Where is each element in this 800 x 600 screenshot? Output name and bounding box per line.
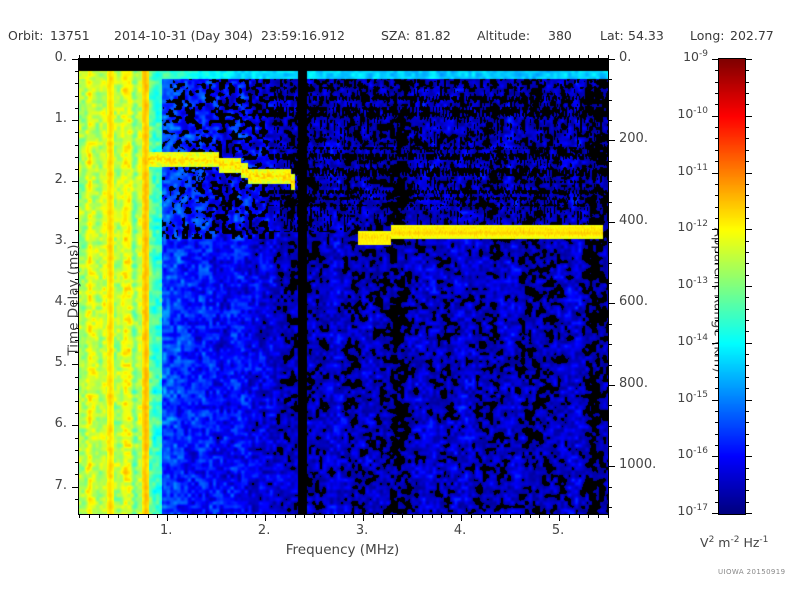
y-axis-left-title: Time Delay (ms) [66, 244, 82, 355]
y-axis-left-tick-label: 6. [55, 416, 67, 431]
colorbar-minor-tick [745, 127, 749, 128]
colorbar-minor-tick [715, 331, 719, 332]
colorbar-tick-mark [745, 343, 752, 344]
tick-mark [549, 514, 550, 518]
tick-mark [177, 55, 178, 59]
colorbar-tick-mark [745, 229, 752, 230]
colorbar-minor-tick [745, 479, 749, 480]
tick-mark [432, 55, 433, 59]
colorbar-base: 10 [677, 163, 693, 178]
credit-text: UIOWA 20150919 [718, 568, 785, 576]
colorbar-base: 10 [677, 446, 693, 461]
tick-mark [412, 55, 413, 59]
tick-mark [75, 230, 79, 231]
tick-mark [579, 514, 580, 518]
tick-mark [118, 514, 119, 518]
colorbar-minor-tick [745, 490, 749, 491]
tick-mark [608, 365, 612, 366]
x-axis-tick-label: 3. [342, 523, 382, 538]
units-m: m [718, 535, 730, 550]
y-axis-left-tick-label: 0. [55, 50, 67, 65]
y-axis-left-tick-label: 5. [55, 355, 67, 370]
colorbar [718, 58, 746, 515]
tick-mark [422, 514, 423, 518]
tick-mark [363, 55, 364, 59]
colorbar-minor-tick [715, 218, 719, 219]
colorbar-minor-tick [745, 93, 749, 94]
tick-mark [138, 514, 139, 518]
tick-mark [148, 514, 149, 518]
tick-mark [75, 193, 79, 194]
x-axis-title: Frequency (MHz) [78, 542, 607, 558]
tick-mark [75, 83, 79, 84]
tick-mark [72, 364, 79, 365]
tick-mark [72, 59, 79, 60]
tick-mark [608, 222, 615, 223]
colorbar-minor-tick [715, 82, 719, 83]
tick-mark [490, 514, 491, 518]
colorbar-minor-tick [745, 184, 749, 185]
tick-mark [608, 385, 615, 386]
tick-mark [72, 181, 79, 182]
colorbar-minor-tick [745, 468, 749, 469]
tick-mark [451, 55, 452, 59]
tick-mark [216, 514, 217, 518]
colorbar-tick-mark [712, 59, 719, 60]
colorbar-tick-label: 10-9 [683, 49, 708, 64]
colorbar-base: 10 [683, 49, 699, 64]
tick-mark [314, 514, 315, 518]
tick-mark [608, 303, 615, 304]
colorbar-minor-tick [715, 411, 719, 412]
tick-mark [304, 55, 305, 59]
units-v: V [700, 535, 709, 550]
tick-mark [75, 157, 79, 158]
tick-mark [608, 466, 615, 467]
tick-mark [608, 507, 612, 508]
tick-mark [608, 514, 609, 518]
colorbar-tick-mark [712, 513, 719, 514]
colorbar-minor-tick [745, 434, 749, 435]
header-altitude-value: 380 [548, 28, 572, 43]
tick-mark [608, 324, 612, 325]
colorbar-exponent: -13 [693, 276, 708, 286]
colorbar-minor-tick [715, 127, 719, 128]
colorbar-gradient [719, 59, 745, 514]
tick-mark [373, 55, 374, 59]
colorbar-minor-tick [715, 309, 719, 310]
colorbar-exponent: -16 [693, 446, 708, 456]
colorbar-minor-tick [745, 309, 749, 310]
tick-mark [569, 55, 570, 59]
tick-mark [324, 55, 325, 59]
colorbar-minor-tick [715, 263, 719, 264]
tick-mark [99, 55, 100, 59]
tick-mark [167, 514, 168, 521]
tick-mark [392, 55, 393, 59]
tick-mark [197, 514, 198, 518]
tick-mark [441, 514, 442, 518]
tick-mark [246, 514, 247, 518]
colorbar-base: 10 [677, 390, 693, 405]
tick-mark [344, 514, 345, 518]
colorbar-minor-tick [715, 252, 719, 253]
header-orbit-label: Orbit: [8, 28, 44, 43]
colorbar-minor-tick [715, 354, 719, 355]
tick-mark [344, 55, 345, 59]
colorbar-tick-mark [745, 116, 752, 117]
colorbar-base: 10 [677, 276, 693, 291]
colorbar-minor-tick [745, 82, 749, 83]
colorbar-minor-tick [715, 365, 719, 366]
tick-mark [75, 96, 79, 97]
tick-mark [177, 514, 178, 518]
colorbar-tick-mark [745, 59, 752, 60]
tick-mark [275, 55, 276, 59]
tick-mark [569, 514, 570, 518]
colorbar-tick-mark [712, 286, 719, 287]
colorbar-minor-tick [715, 150, 719, 151]
tick-mark [353, 55, 354, 59]
tick-mark [353, 514, 354, 518]
colorbar-tick-label: 10-10 [677, 106, 708, 121]
tick-mark [75, 389, 79, 390]
colorbar-tick-mark [745, 173, 752, 174]
colorbar-minor-tick [745, 161, 749, 162]
colorbar-minor-tick [745, 275, 749, 276]
colorbar-minor-tick [715, 93, 719, 94]
tick-mark [559, 514, 560, 521]
colorbar-tick-mark [712, 116, 719, 117]
tick-mark [530, 55, 531, 59]
tick-mark [608, 283, 612, 284]
tick-mark [598, 514, 599, 518]
tick-mark [441, 55, 442, 59]
colorbar-minor-tick [745, 70, 749, 71]
tick-mark [304, 514, 305, 518]
colorbar-minor-tick [745, 377, 749, 378]
tick-mark [72, 120, 79, 121]
colorbar-minor-tick [745, 252, 749, 253]
tick-mark [75, 169, 79, 170]
header-lat-label: Lat: [600, 28, 624, 43]
y-axis-right-tick-label: 200. [619, 131, 648, 146]
y-axis-left-tick-label: 1. [55, 111, 67, 126]
tick-mark [608, 344, 612, 345]
header-altitude-label: Altitude: [477, 28, 530, 43]
colorbar-exponent: -17 [693, 503, 708, 513]
colorbar-minor-tick [715, 184, 719, 185]
tick-mark [324, 514, 325, 518]
tick-mark [75, 206, 79, 207]
tick-mark [402, 55, 403, 59]
header-date: 2014-10-31 (Day 304) [114, 28, 253, 43]
tick-mark [148, 55, 149, 59]
header-sza-value: 81.82 [415, 28, 451, 43]
tick-mark [75, 462, 79, 463]
tick-mark [128, 55, 129, 59]
tick-mark [608, 446, 612, 447]
colorbar-minor-tick [745, 195, 749, 196]
header-info: Orbit: 13751 2014-10-31 (Day 304) 23:59:… [0, 28, 800, 48]
colorbar-tick-mark [745, 513, 752, 514]
colorbar-minor-tick [745, 354, 749, 355]
tick-mark [608, 181, 612, 182]
colorbar-minor-tick [745, 218, 749, 219]
colorbar-base: 10 [677, 333, 693, 348]
colorbar-minor-tick [745, 411, 749, 412]
y-axis-right-tick-label: 0. [619, 50, 631, 65]
tick-mark [412, 514, 413, 518]
x-axis-tick-label: 5. [538, 523, 578, 538]
tick-mark [608, 426, 612, 427]
tick-mark [608, 79, 612, 80]
colorbar-tick-label: 10-16 [677, 446, 708, 461]
tick-mark [75, 401, 79, 402]
tick-mark [588, 55, 589, 59]
tick-mark [383, 514, 384, 518]
units-hz-exponent: -1 [759, 535, 768, 545]
tick-mark [510, 55, 511, 59]
colorbar-minor-tick [715, 445, 719, 446]
colorbar-minor-tick [745, 331, 749, 332]
tick-mark [108, 55, 109, 59]
colorbar-tick-mark [712, 343, 719, 344]
x-axis-tick-label: 4. [440, 523, 480, 538]
colorbar-base: 10 [677, 106, 693, 121]
colorbar-minor-tick [745, 388, 749, 389]
tick-mark [99, 514, 100, 518]
colorbar-minor-tick [715, 297, 719, 298]
tick-mark [265, 514, 266, 521]
header-time: 23:59:16.912 [261, 28, 345, 43]
colorbar-minor-tick [745, 365, 749, 366]
colorbar-tick-mark [712, 173, 719, 174]
y-axis-left-tick-label: 2. [55, 172, 67, 187]
colorbar-minor-tick [715, 195, 719, 196]
tick-mark [206, 55, 207, 59]
tick-mark [167, 55, 168, 59]
colorbar-minor-tick [745, 502, 749, 503]
tick-mark [295, 55, 296, 59]
tick-mark [128, 514, 129, 518]
tick-mark [510, 514, 511, 518]
tick-mark [608, 140, 615, 141]
colorbar-tick-mark [745, 400, 752, 401]
colorbar-minor-tick [715, 275, 719, 276]
header-orbit-value: 13751 [50, 28, 90, 43]
tick-mark [75, 145, 79, 146]
tick-mark [226, 55, 227, 59]
colorbar-units: V2 m-2 Hz-1 [700, 535, 768, 550]
tick-mark [226, 514, 227, 518]
colorbar-tick-label: 10-13 [677, 276, 708, 291]
tick-mark [539, 514, 540, 518]
colorbar-minor-tick [745, 320, 749, 321]
tick-mark [481, 514, 482, 518]
colorbar-tick-label: 10-15 [677, 390, 708, 405]
tick-mark [549, 55, 550, 59]
y-axis-right-tick-label: 600. [619, 294, 648, 309]
colorbar-tick-label: 10-17 [677, 503, 708, 518]
tick-mark [588, 514, 589, 518]
tick-mark [608, 487, 612, 488]
tick-mark [363, 514, 364, 521]
y-axis-right-tick-label: 400. [619, 213, 648, 228]
tick-mark [75, 108, 79, 109]
colorbar-minor-tick [745, 104, 749, 105]
tick-mark [265, 55, 266, 59]
colorbar-exponent: -14 [693, 333, 708, 343]
header-long-value: 202.77 [730, 28, 774, 43]
tick-mark [500, 514, 501, 518]
colorbar-minor-tick [715, 207, 719, 208]
tick-mark [75, 413, 79, 414]
y-axis-right-tick-label: 1000. [619, 457, 656, 472]
y-axis-right-tick-label: 800. [619, 376, 648, 391]
tick-mark [187, 55, 188, 59]
tick-mark [608, 263, 612, 264]
colorbar-tick-mark [712, 229, 719, 230]
tick-mark [216, 55, 217, 59]
tick-mark [373, 514, 374, 518]
tick-mark [79, 514, 80, 518]
colorbar-tick-label: 10-12 [677, 219, 708, 234]
tick-mark [334, 514, 335, 518]
tick-mark [72, 425, 79, 426]
tick-mark [608, 120, 612, 121]
colorbar-minor-tick [715, 104, 719, 105]
colorbar-minor-tick [715, 479, 719, 480]
tick-mark [422, 55, 423, 59]
tick-mark [461, 514, 462, 521]
header-long-label: Long: [690, 28, 724, 43]
tick-mark [471, 514, 472, 518]
colorbar-minor-tick [715, 138, 719, 139]
tick-mark [75, 438, 79, 439]
tick-mark [500, 55, 501, 59]
colorbar-minor-tick [715, 161, 719, 162]
colorbar-minor-tick [745, 297, 749, 298]
tick-mark [236, 55, 237, 59]
colorbar-minor-tick [715, 377, 719, 378]
tick-mark [461, 55, 462, 59]
tick-mark [75, 132, 79, 133]
ionogram-page: Orbit: 13751 2014-10-31 (Day 304) 23:59:… [0, 0, 800, 600]
tick-mark [72, 242, 79, 243]
tick-mark [75, 499, 79, 500]
tick-mark [295, 514, 296, 518]
tick-mark [608, 202, 612, 203]
tick-mark [89, 514, 90, 518]
x-axis-tick-label: 2. [244, 523, 284, 538]
units-v-exponent: 2 [709, 535, 715, 545]
tick-mark [75, 377, 79, 378]
colorbar-minor-tick [745, 207, 749, 208]
colorbar-minor-tick [745, 445, 749, 446]
colorbar-exponent: -15 [693, 390, 708, 400]
y-axis-left-tick-label: 7. [55, 478, 67, 493]
colorbar-minor-tick [715, 320, 719, 321]
tick-mark [559, 55, 560, 59]
colorbar-exponent: -12 [693, 219, 708, 229]
colorbar-tick-label: 10-11 [677, 163, 708, 178]
tick-mark [520, 514, 521, 518]
tick-mark [285, 514, 286, 518]
units-m-exponent: -2 [730, 535, 739, 545]
tick-mark [334, 55, 335, 59]
tick-mark [285, 55, 286, 59]
tick-mark [539, 55, 540, 59]
colorbar-tick-mark [712, 456, 719, 457]
tick-mark [255, 55, 256, 59]
header-sza-label: SZA: [381, 28, 410, 43]
tick-mark [157, 55, 158, 59]
header-lat-value: 54.33 [628, 28, 664, 43]
radargram-plot [78, 58, 609, 515]
colorbar-minor-tick [745, 422, 749, 423]
tick-mark [530, 514, 531, 518]
tick-mark [520, 55, 521, 59]
tick-mark [481, 55, 482, 59]
colorbar-minor-tick [745, 241, 749, 242]
colorbar-minor-tick [715, 502, 719, 503]
colorbar-minor-tick [745, 263, 749, 264]
tick-mark [75, 450, 79, 451]
tick-mark [79, 55, 80, 59]
tick-mark [608, 161, 612, 162]
tick-mark [236, 514, 237, 518]
tick-mark [157, 514, 158, 518]
colorbar-exponent: -11 [693, 163, 708, 173]
tick-mark [392, 514, 393, 518]
tick-mark [608, 405, 612, 406]
x-axis-tick-label: 1. [146, 523, 186, 538]
colorbar-base: 10 [677, 219, 693, 234]
tick-mark [72, 487, 79, 488]
tick-mark [118, 55, 119, 59]
tick-mark [608, 100, 612, 101]
tick-mark [89, 55, 90, 59]
tick-mark [187, 514, 188, 518]
tick-mark [608, 59, 615, 60]
colorbar-tick-mark [745, 286, 752, 287]
colorbar-exponent: -10 [693, 106, 708, 116]
tick-mark [490, 55, 491, 59]
tick-mark [314, 55, 315, 59]
colorbar-exponent: -9 [699, 49, 708, 59]
colorbar-tick-mark [745, 456, 752, 457]
tick-mark [246, 55, 247, 59]
tick-mark [432, 514, 433, 518]
units-hz: Hz [743, 535, 759, 550]
colorbar-minor-tick [745, 138, 749, 139]
tick-mark [75, 71, 79, 72]
colorbar-minor-tick [715, 70, 719, 71]
colorbar-minor-tick [715, 388, 719, 389]
colorbar-minor-tick [715, 468, 719, 469]
tick-mark [451, 514, 452, 518]
tick-mark [108, 514, 109, 518]
tick-mark [608, 242, 612, 243]
colorbar-minor-tick [715, 241, 719, 242]
tick-mark [75, 218, 79, 219]
tick-mark [383, 55, 384, 59]
tick-mark [471, 55, 472, 59]
tick-mark [138, 55, 139, 59]
tick-mark [402, 514, 403, 518]
tick-mark [579, 55, 580, 59]
